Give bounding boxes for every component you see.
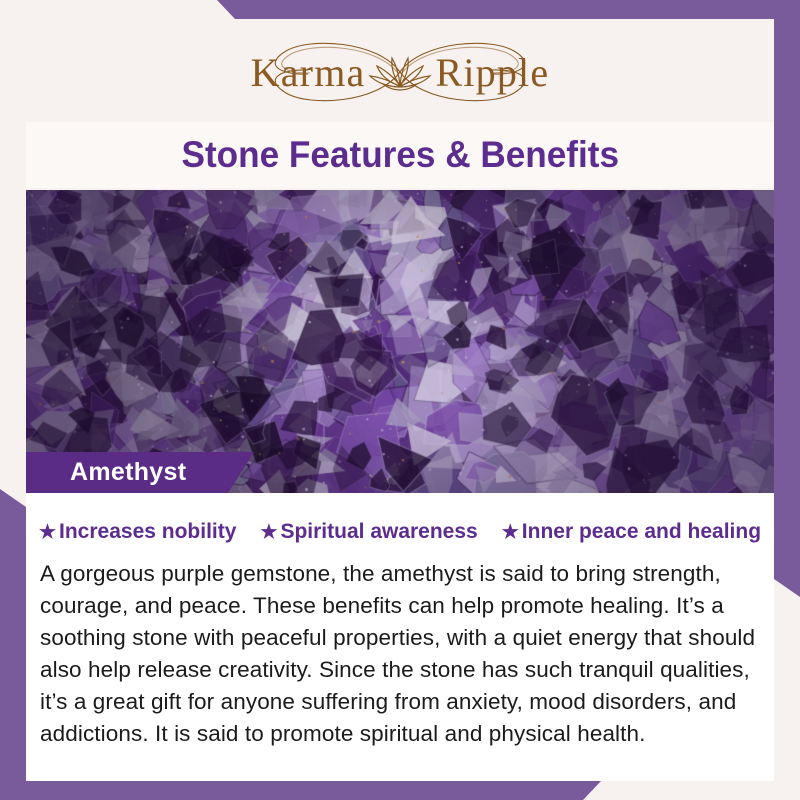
star-icon: ★ xyxy=(260,523,277,542)
stone-name-banner: Amethyst xyxy=(26,452,254,493)
list-item: ★ Increases nobility xyxy=(39,520,236,544)
frame-band-top xyxy=(214,0,800,19)
frame-band-left xyxy=(0,489,26,800)
logo-lockup: Karma Ripple xyxy=(190,33,610,111)
benefit-label: Inner peace and healing xyxy=(522,520,761,544)
page-title: Stone Features & Benefits xyxy=(181,134,619,176)
star-icon: ★ xyxy=(39,523,56,542)
list-item: ★ Spiritual awareness xyxy=(260,520,477,544)
frame-band-bottom xyxy=(0,781,601,800)
benefits-list: ★ Increases nobility ★ Spiritual awarene… xyxy=(26,493,774,544)
hero-image: Amethyst xyxy=(26,190,774,493)
list-item: ★ Inner peace and healing xyxy=(502,520,761,544)
stone-name-label: Amethyst xyxy=(70,458,186,487)
amethyst-crystal-cluster-image xyxy=(26,190,774,493)
frame-band-right xyxy=(774,0,800,597)
stone-description: A gorgeous purple gemstone, the amethyst… xyxy=(40,558,759,750)
card-inner-surface: Karma Ripple Stone Features & Benefits A… xyxy=(26,19,774,781)
product-info-card: Karma Ripple Stone Features & Benefits A… xyxy=(0,0,800,800)
section-title-bar: Stone Features & Benefits xyxy=(26,122,774,188)
brand-logo: Karma Ripple xyxy=(26,19,774,119)
lotus-icon xyxy=(370,58,430,90)
star-icon: ★ xyxy=(502,523,519,542)
logo-ornament-svg xyxy=(190,33,610,111)
benefit-label: Increases nobility xyxy=(59,520,236,544)
content-panel: ★ Increases nobility ★ Spiritual awarene… xyxy=(26,493,774,781)
benefit-label: Spiritual awareness xyxy=(280,520,477,544)
